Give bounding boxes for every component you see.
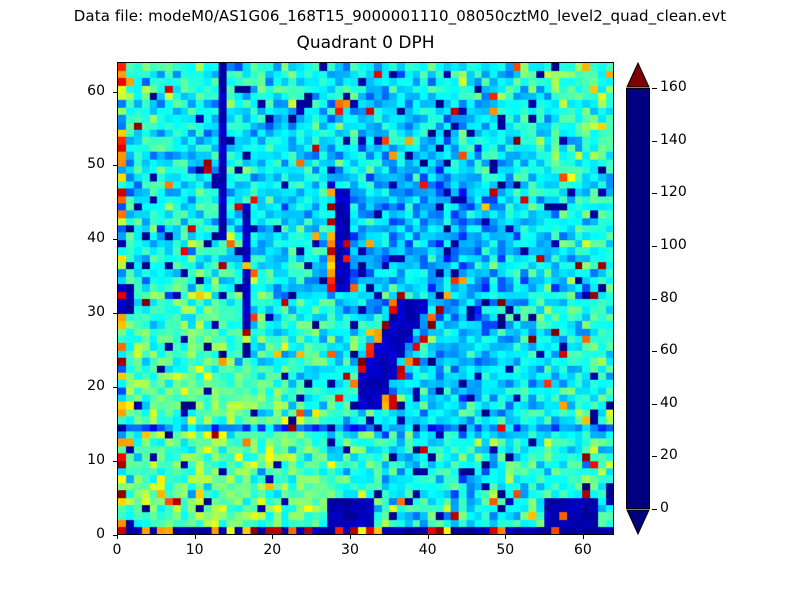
y-tick-label: 0 (65, 526, 105, 542)
colorbar-tick-mark (652, 456, 657, 457)
x-tick-mark (428, 535, 429, 539)
colorbar-tick-mark (652, 404, 657, 405)
triangle-down-icon (626, 509, 650, 535)
x-tick-mark (583, 535, 584, 539)
axes-title: Quadrant 0 DPH (117, 33, 614, 53)
x-tick-label: 30 (330, 542, 370, 558)
y-tick-label: 20 (65, 378, 105, 394)
colorbar-tick-mark (652, 193, 657, 194)
colorbar-tick-label: 60 (660, 342, 678, 358)
x-tick-label: 0 (97, 542, 137, 558)
x-tick-mark (505, 535, 506, 539)
x-tick-mark (117, 535, 118, 539)
colorbar[interactable] (626, 62, 652, 535)
colorbar-tick-mark (652, 299, 657, 300)
y-tick-mark (113, 535, 117, 536)
x-tick-mark (195, 535, 196, 539)
heatmap-image (118, 63, 613, 534)
y-tick-mark (113, 461, 117, 462)
colorbar-gradient (626, 88, 650, 509)
y-tick-label: 50 (65, 156, 105, 172)
y-tick-mark (113, 313, 117, 314)
colorbar-tick-mark (652, 246, 657, 247)
y-tick-label: 10 (65, 452, 105, 468)
y-tick-label: 40 (65, 230, 105, 246)
y-tick-mark (113, 387, 117, 388)
x-tick-mark (350, 535, 351, 539)
y-tick-mark (113, 92, 117, 93)
colorbar-tick-mark (652, 351, 657, 352)
x-tick-mark (272, 535, 273, 539)
colorbar-tick-label: 0 (660, 500, 669, 516)
colorbar-tick-label: 20 (660, 447, 678, 463)
x-tick-label: 60 (563, 542, 603, 558)
y-tick-label: 30 (65, 304, 105, 320)
colorbar-tick-label: 120 (660, 184, 687, 200)
colorbar-tick-label: 140 (660, 132, 687, 148)
x-tick-label: 20 (252, 542, 292, 558)
colorbar-tick-label: 40 (660, 395, 678, 411)
triangle-up-icon (626, 62, 650, 88)
colorbar-tick-label: 160 (660, 79, 687, 95)
x-tick-label: 10 (175, 542, 215, 558)
y-tick-mark (113, 239, 117, 240)
figure-canvas: Data file: modeM0/AS1G06_168T15_90000011… (0, 0, 800, 600)
colorbar-tick-label: 80 (660, 290, 678, 306)
colorbar-tick-mark (652, 509, 657, 510)
y-tick-label: 60 (65, 83, 105, 99)
x-tick-label: 50 (485, 542, 525, 558)
x-tick-label: 40 (408, 542, 448, 558)
figure-suptitle: Data file: modeM0/AS1G06_168T15_90000011… (0, 7, 800, 25)
colorbar-tick-label: 100 (660, 237, 687, 253)
colorbar-tick-mark (652, 141, 657, 142)
y-tick-mark (113, 165, 117, 166)
colorbar-tick-mark (652, 88, 657, 89)
heatmap-axes[interactable] (117, 62, 614, 535)
